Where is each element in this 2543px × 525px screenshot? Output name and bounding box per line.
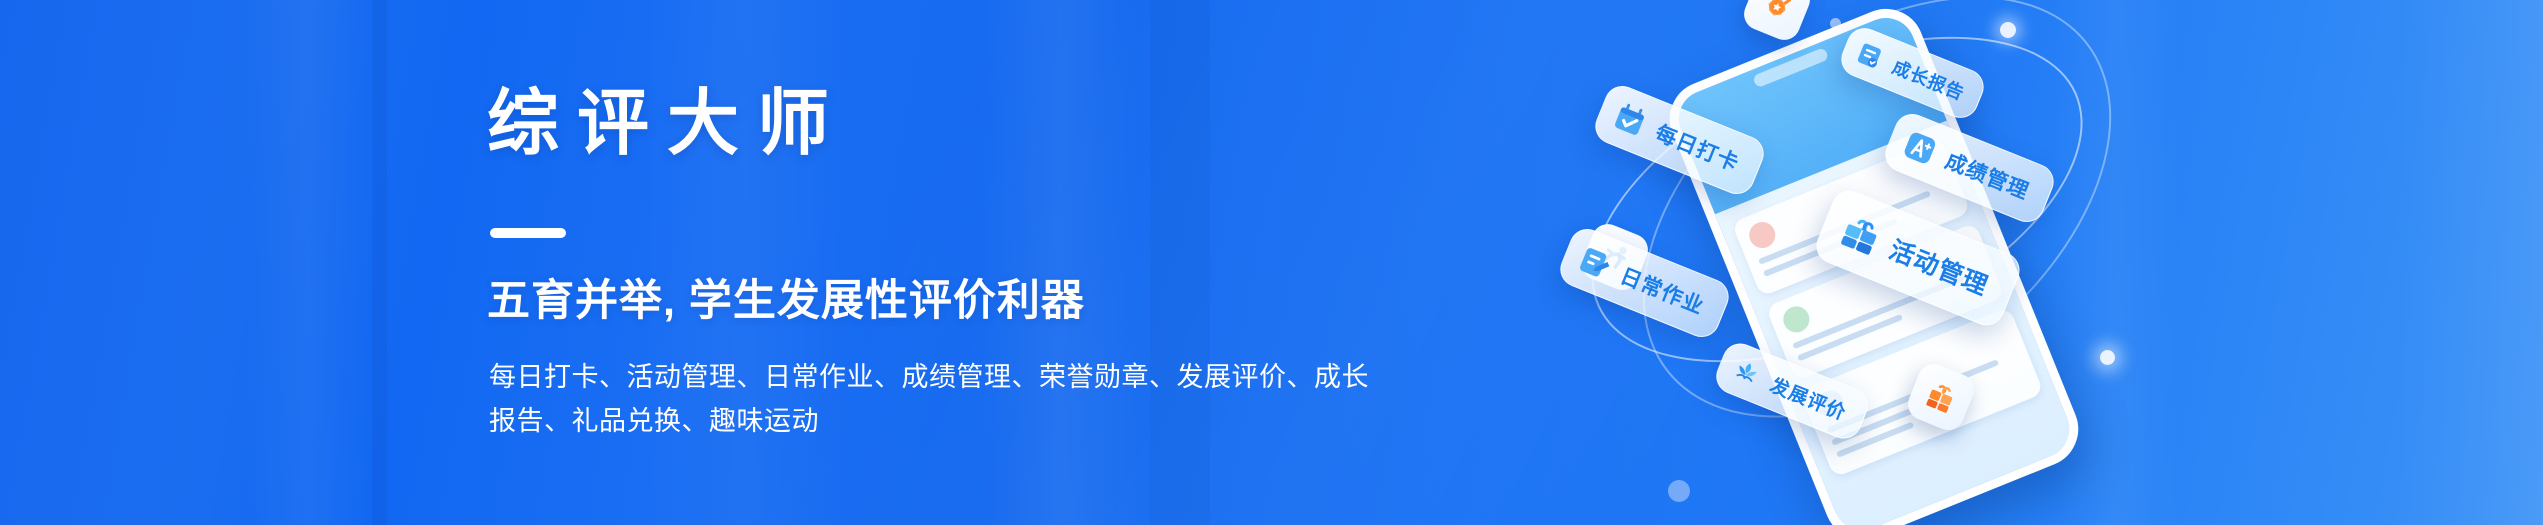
avatar [1779, 302, 1813, 336]
feature-chip-label: 活动管理 [1884, 230, 1994, 302]
homework-pen-icon [1573, 241, 1617, 285]
gift-box-orange-glyph [1918, 374, 1965, 421]
banner-copy: 综评大师 五育并举, 学生发展性评价利器 每日打卡、活动管理、日常作业、成绩管理… [487, 0, 1387, 525]
phone-notch [1752, 47, 1829, 88]
grade-a-plus-icon [1898, 126, 1942, 170]
lotus-flower-icon [1727, 353, 1766, 392]
page-title: 综评大师 [487, 88, 847, 160]
report-document-icon [1851, 37, 1887, 73]
bg-band [372, 0, 387, 525]
decorative-dot [2000, 22, 2016, 38]
avatar [1745, 218, 1779, 252]
medal-badge-glyph [1754, 0, 1801, 30]
bg-band [245, 0, 370, 525]
calendar-check-icon [1608, 98, 1652, 142]
bg-band [2395, 0, 2543, 525]
feature-description: 每日打卡、活动管理、日常作业、成绩管理、荣誉勋章、发展评价、成长报告、礼品兑换、… [489, 355, 1369, 443]
tagline: 五育并举, 学生发展性评价利器 [487, 277, 1085, 326]
decorative-dot [1668, 480, 1690, 502]
promo-banner: 综评大师 五育并举, 学生发展性评价利器 每日打卡、活动管理、日常作业、成绩管理… [0, 0, 2543, 525]
product-illustration: 每日打卡 成长报告 成绩管理 [1540, 0, 2260, 525]
title-divider [490, 228, 566, 238]
decorative-dot [2100, 350, 2115, 365]
gift-box-icon [1833, 207, 1888, 262]
